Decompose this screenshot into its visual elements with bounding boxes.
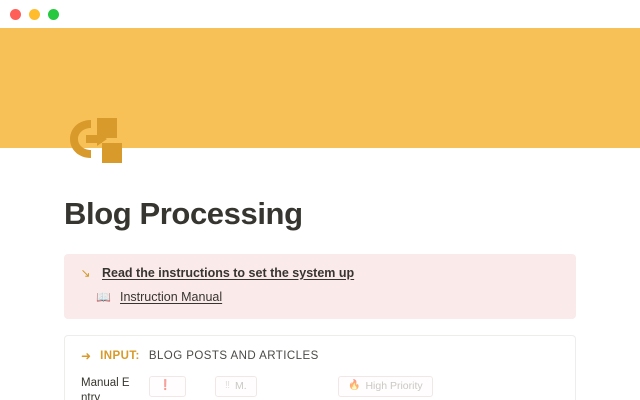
priority-chip-medium[interactable]: ‼ M. bbox=[215, 376, 257, 397]
input-section-card: ➜ INPUT: BLOG POSTS AND ARTICLES Manual … bbox=[64, 335, 576, 400]
close-button[interactable] bbox=[10, 9, 21, 20]
input-section-header: ➜ INPUT: BLOG POSTS AND ARTICLES bbox=[81, 350, 559, 362]
priority-chip-high-label: High Priority bbox=[365, 380, 422, 392]
double-exclamation-icon: ‼ bbox=[225, 381, 230, 391]
arrow-right-icon: ➜ bbox=[81, 350, 91, 362]
fire-icon: 🔥 bbox=[348, 381, 360, 391]
instruction-manual-link[interactable]: Instruction Manual bbox=[120, 289, 222, 306]
zoom-button[interactable] bbox=[48, 9, 59, 20]
exclamation-icon: ❗ bbox=[159, 381, 171, 391]
entry-chips: ❗ ‼ M. 🔥 High Priority bbox=[133, 376, 433, 397]
table-row: Manual Entry → ❗ ‼ M. bbox=[81, 376, 559, 400]
instructions-link[interactable]: Read the instructions to set the system … bbox=[102, 265, 354, 282]
chip-slot-1: ❗ bbox=[133, 376, 215, 397]
priority-chip-medium-label: M. bbox=[235, 380, 247, 392]
input-label: INPUT: bbox=[100, 350, 140, 362]
input-heading: BLOG POSTS AND ARTICLES bbox=[149, 350, 319, 362]
page-cover[interactable] bbox=[0, 28, 640, 148]
callout-manual-row: 📖 Instruction Manual bbox=[78, 289, 562, 306]
page-title: Blog Processing bbox=[64, 196, 576, 232]
priority-chip-low[interactable]: ❗ bbox=[149, 376, 186, 397]
page-icon-logo[interactable] bbox=[66, 114, 124, 172]
page-content: Blog Processing ↘ Read the instructions … bbox=[0, 196, 640, 400]
callout-instruction-row: ↘ Read the instructions to set the syste… bbox=[78, 265, 562, 282]
entry-name-text: Manual Entry bbox=[81, 377, 130, 400]
chip-slot-2: ‼ M. bbox=[215, 376, 305, 397]
entry-name-cell[interactable]: Manual Entry → bbox=[81, 376, 133, 400]
chip-slot-3: 🔥 High Priority bbox=[305, 376, 433, 397]
priority-chip-high[interactable]: 🔥 High Priority bbox=[338, 376, 433, 397]
window-titlebar bbox=[0, 0, 640, 28]
instructions-callout: ↘ Read the instructions to set the syste… bbox=[64, 254, 576, 319]
arrow-down-right-icon: ↘ bbox=[78, 265, 93, 282]
open-book-icon: 📖 bbox=[96, 289, 111, 306]
minimize-button[interactable] bbox=[29, 9, 40, 20]
